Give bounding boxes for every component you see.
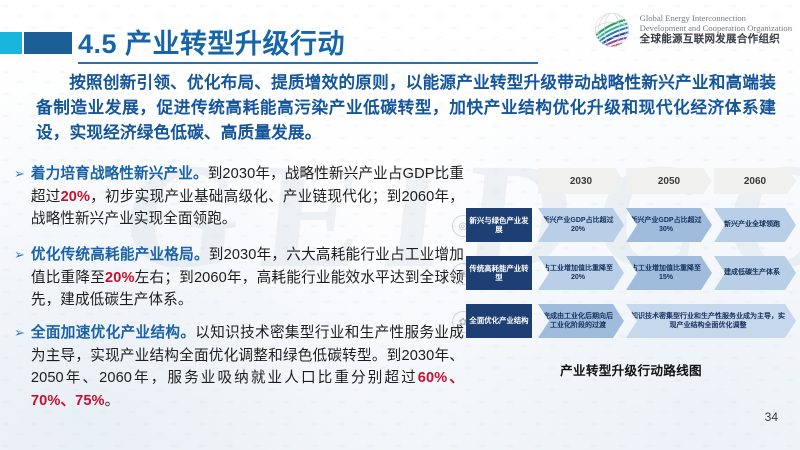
roadmap-row-label-2: 传统高耗能产业转型	[466, 256, 532, 290]
title-accent-block-blue	[24, 32, 72, 54]
bullet-heading-2: 优化传统高耗能产业格局。	[31, 247, 209, 263]
roadmap-cell-r3c1: 完成由工业化后期向后工业化阶段的过渡	[538, 304, 624, 338]
bullet-heading-1: 着力培育战略性新兴产业。	[31, 166, 208, 182]
roadmap-cell-r3c2: 知识技术密集型行业和生产性服务业成为主导，实现产业结构全面优化调整	[626, 304, 796, 338]
bullet-text-3: 全面加速优化产业结构。以知识技术密集型行业和生产性服务业成为主导，实现产业结构全…	[31, 322, 464, 412]
intro-paragraph: 按照创新引领、优化布局、提质增效的原则，以能源产业转型升级带动战略性新兴产业和高…	[36, 70, 776, 146]
bullet-heading-3: 全面加速优化产业结构。	[31, 325, 195, 341]
roadmap-row-label-3: 全面优化产业结构	[466, 304, 532, 338]
title-accent-block-cyan	[0, 32, 22, 54]
roadmap-cell-r2c3: 建成低碳生产体系	[714, 256, 796, 290]
bullet-item-3: ➢ 全面加速优化产业结构。以知识技术密集型行业和生产性服务业成为主导，实现产业结…	[14, 322, 464, 412]
logo-en-line-2: Development and Cooperation Organization	[640, 24, 792, 34]
slide-canvas: GEIDCO 4.5 产业转型升级行动	[0, 0, 800, 450]
bullet-arrow-icon: ➢	[14, 163, 25, 184]
roadmap-row-label-1: 新兴与绿色产业发展	[466, 208, 532, 242]
roadmap-cell-r2c1: 占工业增加值比重降至20%	[538, 256, 624, 290]
year-chevron-2030: 2030	[538, 168, 624, 194]
page-number: 34	[765, 410, 778, 424]
bullet-body-3b: 。	[105, 393, 120, 409]
organization-logo: Global Energy Interconnection Developmen…	[591, 8, 792, 52]
year-chevron-2060: 2060	[714, 168, 796, 194]
roadmap-cell-r1c3: 新兴产业全球领跑	[714, 208, 796, 242]
bullet-text-1: 着力培育战略性新兴产业。到2030年，战略性新兴产业占GDP比重超过20%，初步…	[31, 163, 464, 231]
bullet-highlight-1: 20%	[61, 189, 91, 205]
bullet-arrow-icon: ➢	[14, 244, 25, 265]
logo-text-block: Global Energy Interconnection Developmen…	[640, 14, 792, 46]
bullet-item-1: ➢ 着力培育战略性新兴产业。到2030年，战略性新兴产业占GDP比重超过20%，…	[14, 163, 464, 231]
page-title: 4.5 产业转型升级行动	[78, 22, 345, 61]
roadmap-row-2: 传统高耗能产业转型 占工业增加值比重降至20% 占工业增加值比重降至15% 建成…	[466, 256, 796, 296]
year-chevron-2050: 2050	[626, 168, 712, 194]
title-underline	[78, 62, 538, 64]
roadmap-cell-r2c2: 占工业增加值比重降至15%	[626, 256, 712, 290]
roadmap-caption: 产业转型升级行动路线图	[466, 360, 796, 379]
bullet-item-2: ➢ 优化传统高耗能产业格局。到2030年，六大高耗能行业占工业增加值比重降至20…	[14, 244, 464, 312]
logo-cn-line: 全球能源互联网发展合作组织	[640, 34, 792, 46]
roadmap-row-3: 全面优化产业结构 完成由工业化后期向后工业化阶段的过渡 知识技术密集型行业和生产…	[466, 304, 796, 344]
roadmap-cell-r1c1: 新兴产业GDP占比超过20%	[538, 208, 624, 242]
bullet-arrow-icon: ➢	[14, 322, 25, 343]
globe-icon	[591, 9, 633, 51]
bullet-body-1b: ，初步实现产业基础高级化、产业链现代化；到2060年，战略性新兴产业实现全面领跑…	[31, 189, 464, 228]
roadmap-diagram: 2030 2050 2060 新兴与绿色产业发展 新兴产业GDP占比超过20% …	[466, 168, 796, 368]
roadmap-year-header: 2030 2050 2060	[538, 168, 796, 194]
bullet-text-2: 优化传统高耗能产业格局。到2030年，六大高耗能行业占工业增加值比重降至20%左…	[31, 244, 464, 312]
bullet-highlight-2: 20%	[105, 270, 135, 286]
roadmap-cell-r1c2: 新兴产业GDP占比超过30%	[626, 208, 712, 242]
roadmap-row-1: 新兴与绿色产业发展 新兴产业GDP占比超过20% 新兴产业GDP占比超过30% …	[466, 208, 796, 248]
